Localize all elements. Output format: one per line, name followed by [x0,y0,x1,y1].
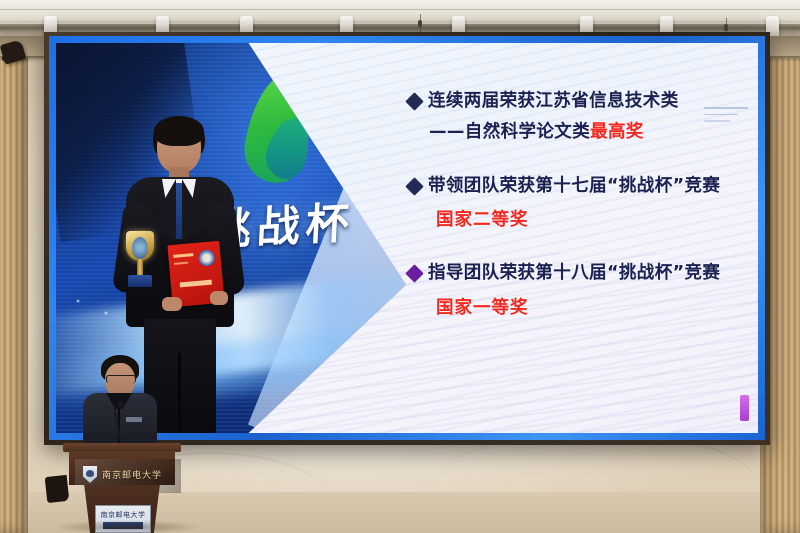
ceiling-fitting [724,24,728,31]
certificate-title-bar [180,280,212,288]
bullet-item-2: 带领团队荣获第十七届“挑战杯”竞赛 国家二等奖 [408,174,738,231]
accent-line-3 [704,120,730,122]
trophy-icon [122,231,158,299]
bullet-2-award: 国家二等奖 [436,206,738,231]
glasses-icon [106,375,136,383]
hand-right [210,291,228,305]
lecture-hall-scene: 挑战杯 [0,0,800,533]
diamond-bullet-icon [405,178,423,196]
hair [154,116,204,146]
slide-accent-lines [704,107,748,127]
podium-plaque-name: 南京邮电大学 [96,510,150,520]
certificate-line-2 [174,262,188,265]
podium-front-panel: 南京邮电大学 [69,451,175,485]
wood-slat-wall-left [0,0,28,533]
diamond-bullet-icon-purple [405,265,423,283]
microphone-icon [117,401,125,409]
presenter-jacket-logo [126,417,142,422]
bullet-item-1: 连续两届荣获江苏省信息技术类 ——自然科学论文类最高奖 [408,89,738,144]
bullet-1-line-2-prefix: ——自然科学论文类 [429,122,590,142]
bullet-1-highlight: 最高奖 [590,122,644,142]
bullet-3-line-1: 指导团队荣获第十八届“挑战杯”竞赛 [428,261,720,285]
diamond-bullet-icon [405,92,423,110]
slide-bullet-list: 连续两届荣获江苏省信息技术类 ——自然科学论文类最高奖 带领团队荣获第十七届“挑… [408,89,738,349]
podium-university-name: 南京邮电大学 [102,468,162,481]
ceiling-panel-line-2 [0,21,800,22]
trophy-globe [132,237,148,259]
slide-purple-tab [740,395,749,421]
accent-line-1 [704,107,748,109]
certificate-emblem-icon [198,249,215,266]
ceiling-fitting [418,20,422,27]
podium-floor-shadow [52,520,202,533]
bullet-2-line-1: 带领团队荣获第十七届“挑战杯”竞赛 [428,174,720,198]
accent-line-2 [704,114,738,116]
bullet-1-line-2: ——自然科学论文类最高奖 [429,120,738,144]
ceiling-panel-line [0,9,800,10]
bullet-item-3: 指导团队荣获第十八届“挑战杯”竞赛 国家一等奖 [408,261,738,318]
certificate-line-1 [173,253,193,258]
hand-left [162,297,182,311]
bullet-1-line-1: 连续两届荣获江苏省信息技术类 [428,89,679,113]
lighting-track [0,24,800,31]
trophy-base [128,275,152,287]
trouser-split [178,353,181,433]
bullet-3-award: 国家一等奖 [436,294,738,319]
